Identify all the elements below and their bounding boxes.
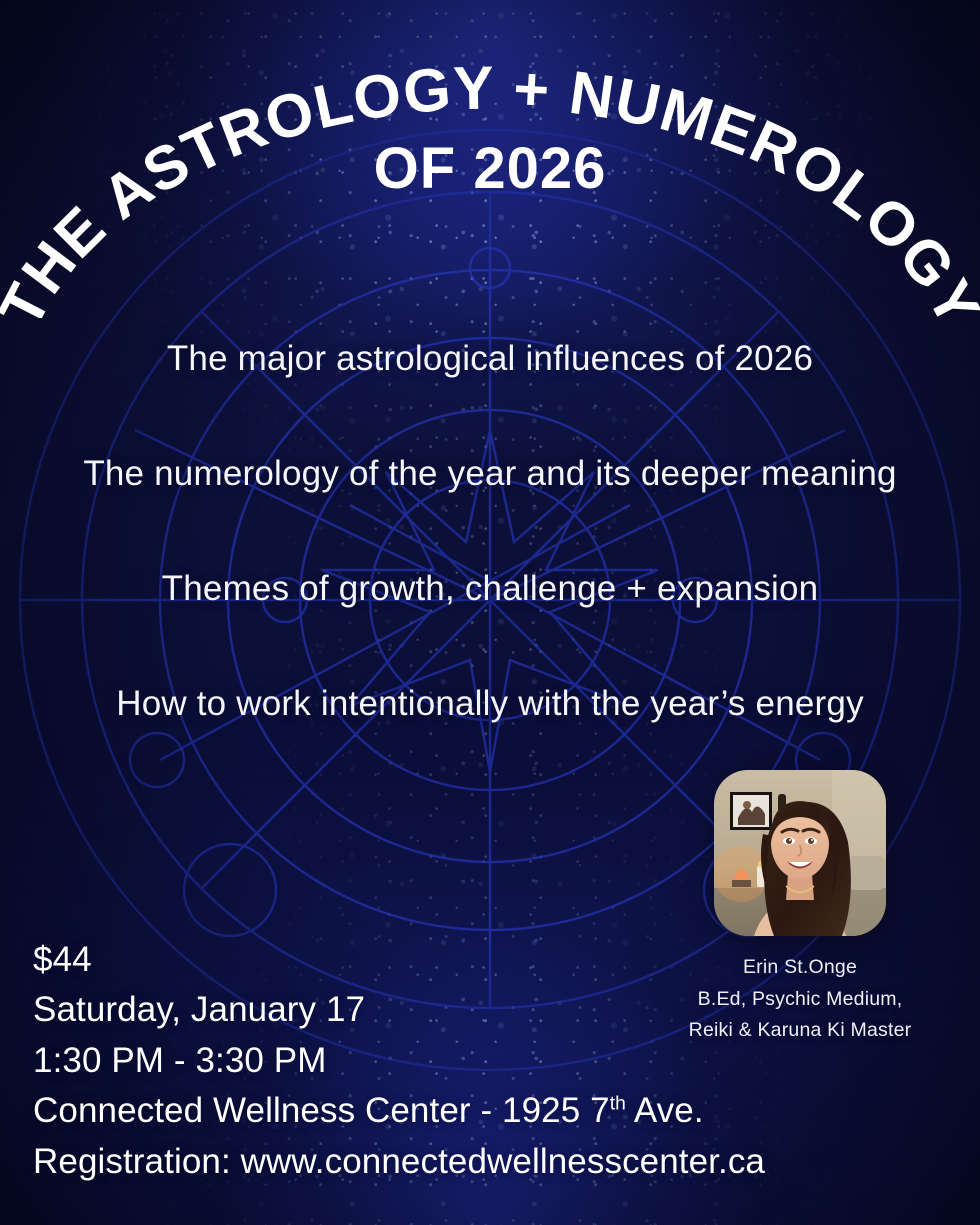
event-date: Saturday, January 17 (33, 985, 765, 1035)
event-details: $44 Saturday, January 17 1:30 PM - 3:30 … (33, 935, 765, 1187)
event-venue-suffix: Ave. (626, 1091, 704, 1130)
topic-item-3: Themes of growth, challenge + expansion (0, 568, 980, 610)
poster-title-subline: OF 2026 (0, 140, 980, 198)
event-time: 1:30 PM - 3:30 PM (33, 1036, 765, 1086)
presenter-photo-illustration (714, 770, 886, 936)
event-price: $44 (33, 935, 765, 985)
event-registration-url[interactable]: Registration: www.connectedwellnesscente… (33, 1137, 765, 1187)
topic-item-4: How to work intentionally with the year’… (0, 683, 980, 725)
topic-item-2: The numerology of the year and its deepe… (0, 453, 980, 495)
event-venue: Connected Wellness Center - 1925 7th Ave… (33, 1086, 765, 1136)
topic-list: The major astrological influences of 202… (0, 338, 980, 725)
event-poster: THE ASTROLOGY + NUMEROLOGY OF 2026 The m… (0, 0, 980, 1225)
event-venue-prefix: Connected Wellness Center - 1925 7 (33, 1091, 610, 1130)
presenter-photo (714, 770, 886, 936)
topic-item-1: The major astrological influences of 202… (0, 338, 980, 380)
event-venue-ordinal: th (610, 1094, 626, 1115)
